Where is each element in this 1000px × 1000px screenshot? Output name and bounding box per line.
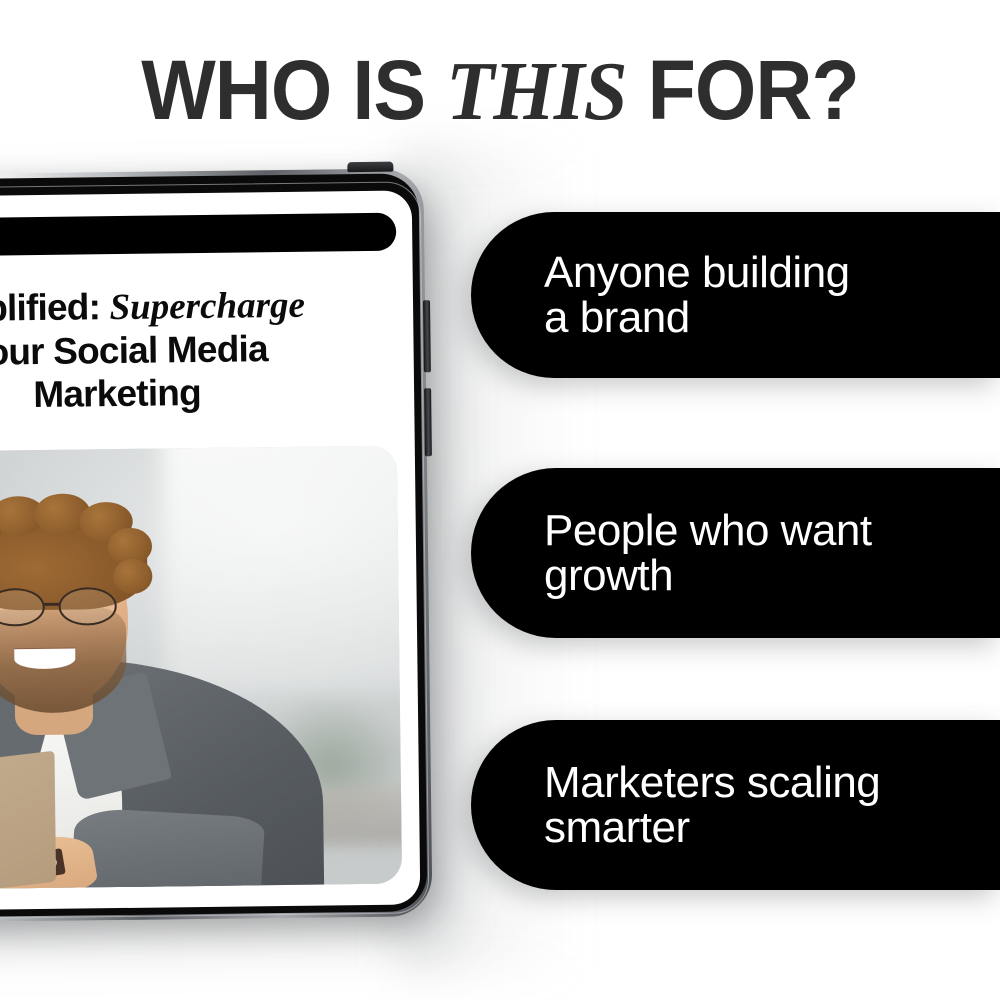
screen-title-line1-emphasis: Supercharge: [109, 285, 305, 328]
device-screen: Amplified: Supercharge Your Social Media…: [0, 190, 420, 911]
slide-canvas: WHO IS THIS FOR? Amplified: Supercharge …: [0, 0, 1000, 1000]
volume-up-button-icon[interactable]: [423, 300, 431, 372]
photo-window-light: [162, 446, 402, 694]
device-bezel: Amplified: Supercharge Your Social Media…: [0, 173, 427, 918]
volume-down-button-icon[interactable]: [424, 388, 432, 456]
benefit-pill-3[interactable]: Marketers scaling smarter: [471, 720, 1000, 890]
benefit-pill-2-label: People who want growth: [471, 508, 896, 599]
screen-top-bar: [0, 213, 396, 258]
benefit-pill-1-label: Anyone building a brand: [471, 250, 874, 341]
photo-glasses-bridge: [44, 603, 60, 606]
page-title-part2: FOR?: [627, 43, 859, 137]
page-title: WHO IS THIS FOR?: [30, 48, 970, 134]
screen-title: Amplified: Supercharge Your Social Media…: [0, 282, 414, 419]
benefit-pill-2[interactable]: People who want growth: [471, 468, 1000, 638]
benefit-pill-1[interactable]: Anyone building a brand: [471, 212, 1000, 378]
photo-hair-curl: [114, 558, 153, 594]
photo-laptop: [0, 751, 56, 890]
screen-photo: [0, 446, 402, 891]
benefit-pill-3-label: Marketers scaling smarter: [471, 760, 904, 851]
photo-person-sleeve: [70, 807, 264, 891]
screen-title-line1-plain: Amplified:: [0, 286, 110, 329]
power-button-icon[interactable]: [347, 162, 393, 173]
device-frame: Amplified: Supercharge Your Social Media…: [0, 168, 433, 924]
page-title-part1: WHO IS: [141, 43, 446, 137]
screen-title-line3: Marketing: [33, 372, 201, 415]
device-mockup: Amplified: Supercharge Your Social Media…: [0, 168, 445, 928]
photo-glasses-right-lens: [58, 587, 117, 625]
screen-title-line2: Your Social Media: [0, 328, 268, 373]
page-title-emphasis: THIS: [446, 45, 627, 138]
